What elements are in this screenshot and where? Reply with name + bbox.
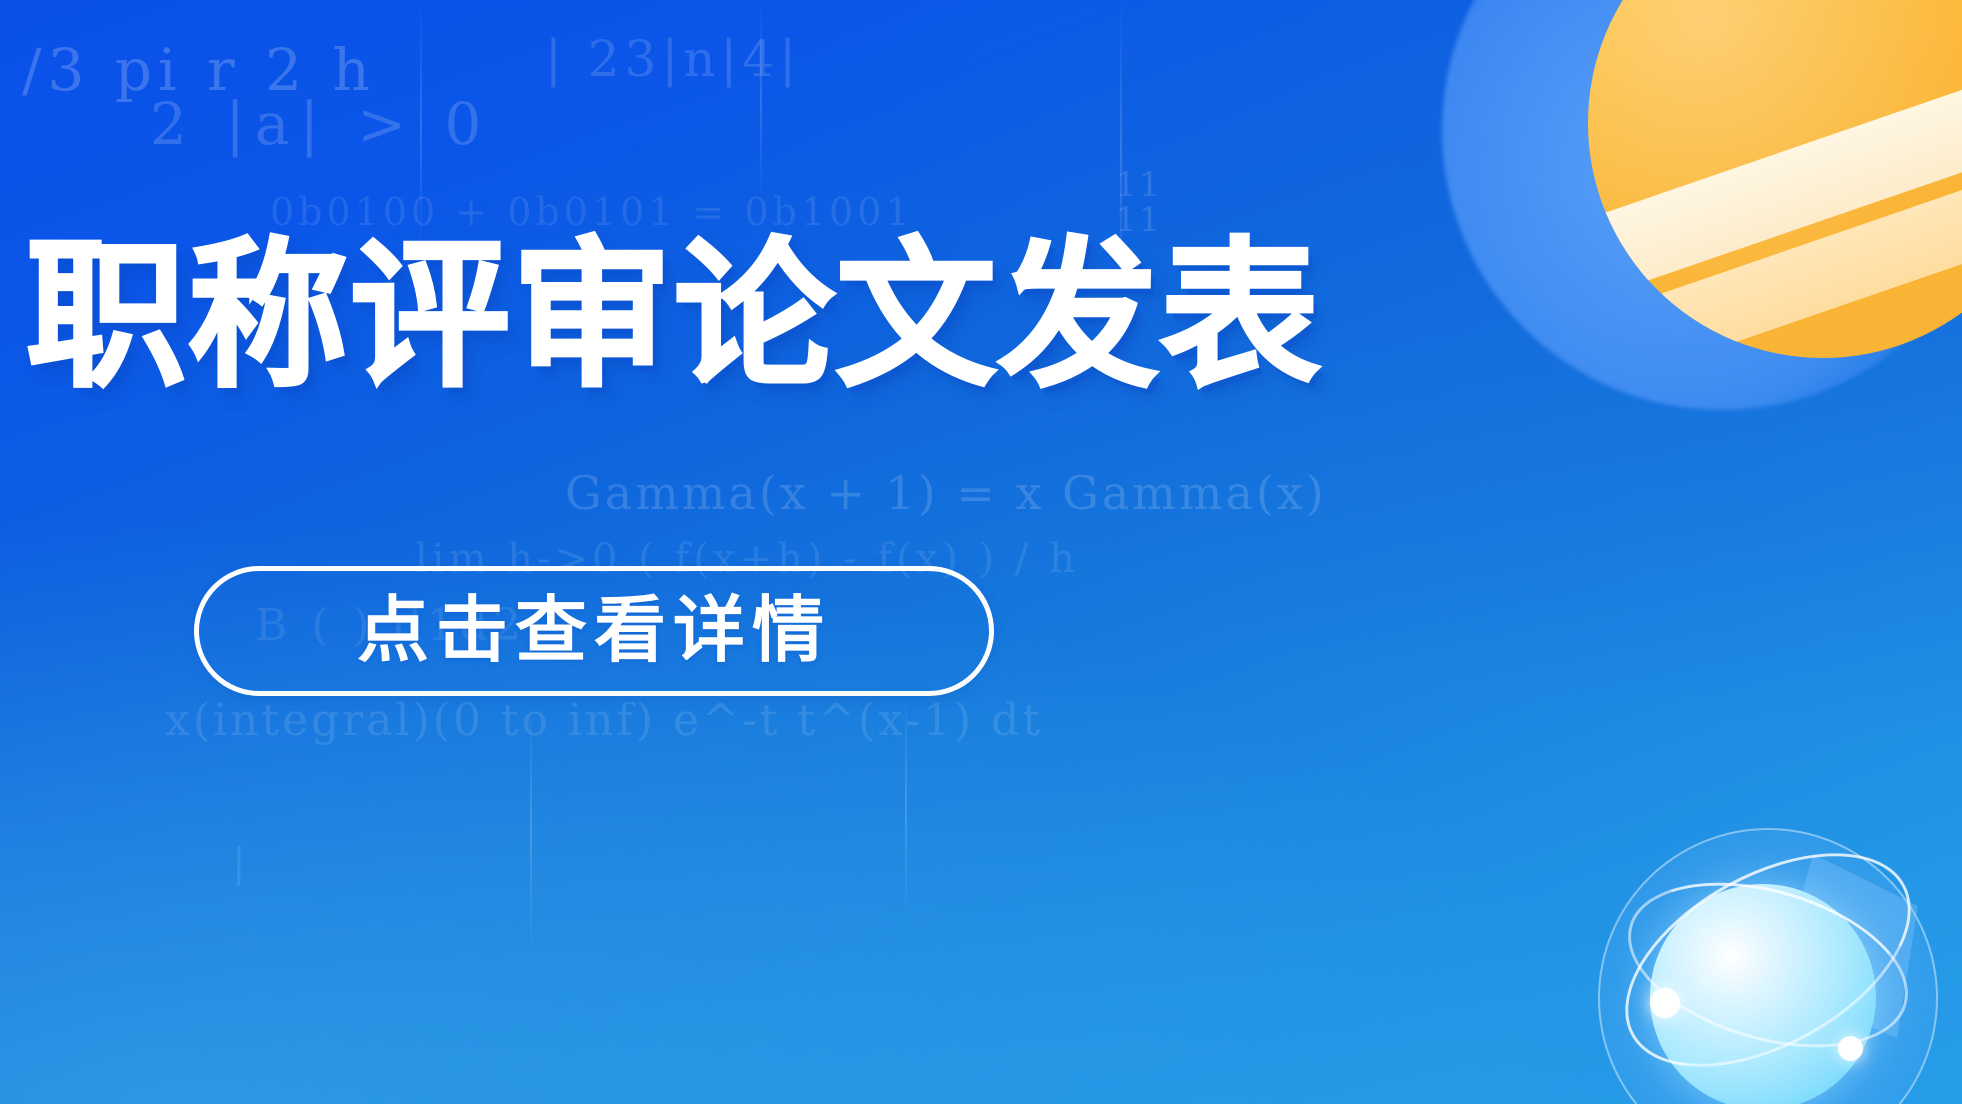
atom-graphic xyxy=(1598,828,1938,1104)
background-streak xyxy=(530,700,532,960)
promo-banner: /3 pi r 2 h 2 |a| > 0 | 23|n|4| 0b0100 +… xyxy=(0,0,1962,1104)
view-details-button-label: 点击查看详情 xyxy=(357,595,831,667)
math-tick-1: 11 xyxy=(1115,165,1162,205)
math-line-top-left: /3 pi r 2 h xyxy=(22,36,376,104)
atom-electron-dot xyxy=(1650,988,1680,1018)
view-details-button[interactable]: 点击查看详情 xyxy=(194,566,994,696)
atom-electron-dot xyxy=(1838,1036,1863,1061)
math-line-bottom: x(integral)(0 to inf) e^-t t^(x-1) dt xyxy=(165,695,1043,746)
background-streak xyxy=(760,0,762,200)
math-line-top-mid: | 23|n|4| xyxy=(545,30,801,88)
background-streak xyxy=(905,690,907,920)
math-vertical-mark: | xyxy=(232,840,247,886)
planet-graphic xyxy=(1588,0,1962,358)
page-title: 职称评审论文发表 xyxy=(26,236,1322,396)
math-line-top-left-2: 2 |a| > 0 xyxy=(150,90,491,158)
math-line-gamma: Gamma(x + 1) = x Gamma(x) xyxy=(565,466,1327,520)
background-streak xyxy=(420,0,422,250)
